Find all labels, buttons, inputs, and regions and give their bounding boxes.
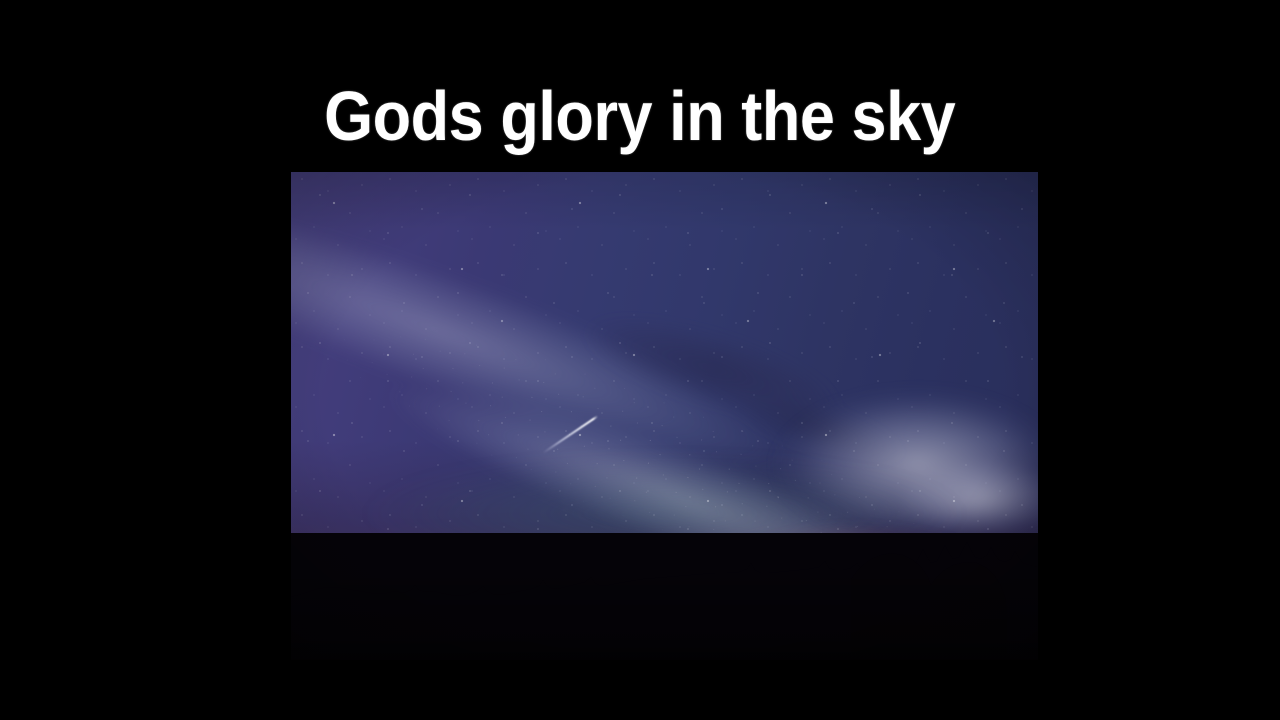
page-title: Gods glory in the sky bbox=[324, 81, 955, 151]
night-sky-photo bbox=[291, 172, 1038, 660]
horizon-silhouette bbox=[291, 533, 1038, 660]
tree-silhouette-icon bbox=[291, 533, 1038, 660]
title-bar: Gods glory in the sky bbox=[0, 74, 1280, 158]
slide-canvas: Gods glory in the sky bbox=[0, 0, 1280, 720]
